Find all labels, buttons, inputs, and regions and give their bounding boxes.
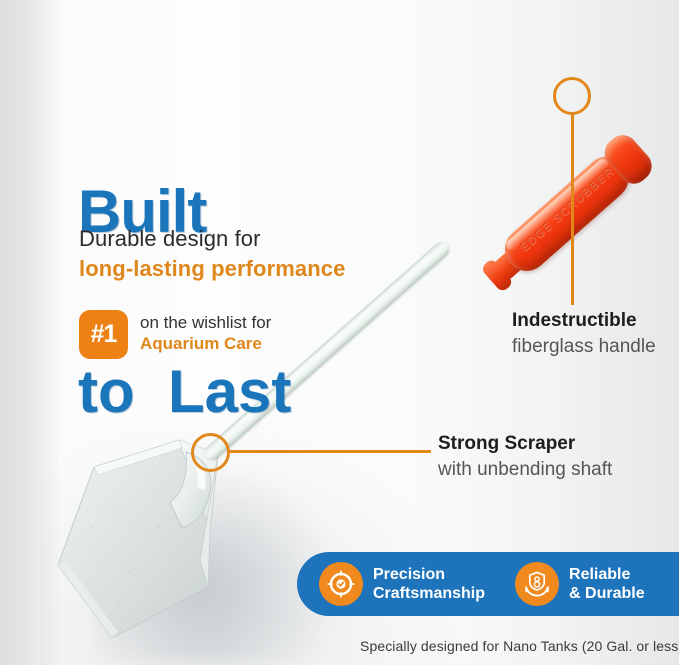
handle-callout-leader-line bbox=[571, 113, 574, 305]
orange-grip-handle: EDGE SCRUBBER bbox=[495, 132, 655, 281]
subheadline-line-2: long-lasting performance bbox=[79, 256, 345, 282]
rank-badge-caption-line-1: on the wishlist for bbox=[140, 313, 271, 333]
disclaimer-text: Specially designed for Nano Tanks (20 Ga… bbox=[360, 638, 679, 654]
handle-callout-subtitle: fiberglass handle bbox=[512, 336, 656, 358]
feature-precision-line-1: Precision bbox=[373, 565, 485, 584]
feature-banner: Precision Craftsmanship Reliable & Durab… bbox=[297, 552, 679, 616]
handle-callout-ring bbox=[553, 77, 591, 115]
hands-shield-icon bbox=[515, 562, 559, 606]
page-headline: Built to Last bbox=[78, 62, 291, 542]
feature-reliable-label: Reliable & Durable bbox=[569, 565, 645, 603]
rank-badge-caption-line-2: Aquarium Care bbox=[140, 334, 262, 354]
feature-reliable-durable: Reliable & Durable bbox=[515, 562, 645, 606]
precision-target-icon bbox=[319, 562, 363, 606]
rank-badge: #1 bbox=[79, 310, 128, 359]
subheadline-line-1: Durable design for bbox=[79, 226, 261, 252]
scraper-callout-title: Strong Scraper bbox=[438, 433, 575, 455]
scraper-callout-subtitle: with unbending shaft bbox=[438, 459, 612, 481]
rank-badge-text: #1 bbox=[91, 320, 117, 349]
feature-reliable-line-2: & Durable bbox=[569, 584, 645, 603]
headline-line-2: to Last bbox=[78, 362, 291, 422]
feature-precision-label: Precision Craftsmanship bbox=[373, 565, 485, 603]
feature-precision-line-2: Craftsmanship bbox=[373, 584, 485, 603]
feature-reliable-line-1: Reliable bbox=[569, 565, 645, 584]
handle-callout-title: Indestructible bbox=[512, 310, 637, 332]
product-marketing-image: EDGE SCRUBBER Built to Last Durable desi… bbox=[0, 0, 679, 665]
feature-precision-craftsmanship: Precision Craftsmanship bbox=[319, 562, 485, 606]
